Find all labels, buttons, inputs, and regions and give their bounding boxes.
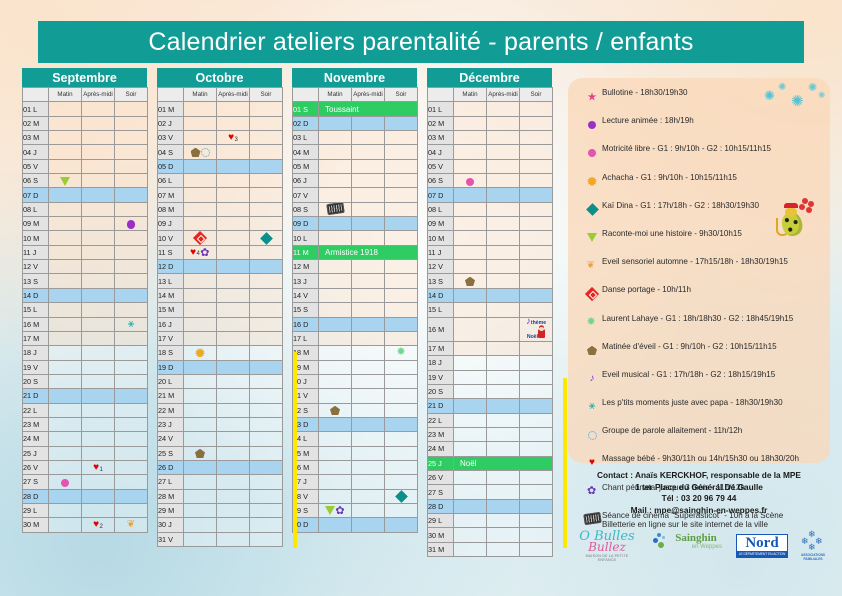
slot-cell [520, 485, 553, 499]
flower-icon: ✿ [335, 506, 345, 516]
day-label: 03 M [428, 131, 454, 145]
slot-cell [385, 116, 418, 130]
corner-cell [158, 88, 184, 102]
slot-cell [385, 202, 418, 216]
slot-cell [115, 231, 148, 245]
day-label: 06 S [23, 174, 49, 188]
day-label: 10 M [23, 231, 49, 245]
day-row: 09 M [428, 217, 553, 231]
day-row: 30 M [428, 528, 553, 542]
day-label: 13 L [158, 274, 184, 288]
legend-icon [582, 87, 602, 106]
day-row: 21 D [23, 389, 148, 403]
day-row: 12 M [293, 260, 418, 274]
day-label: 17 L [293, 331, 319, 345]
day-label: 20 S [23, 374, 49, 388]
day-row: 02 M [23, 116, 148, 130]
slot-cell [520, 384, 553, 398]
day-row: 24 L [293, 432, 418, 446]
day-row: 21 D [428, 399, 553, 413]
slot-cell [520, 274, 553, 288]
slot-cell [49, 460, 82, 474]
slot-cell [487, 485, 520, 499]
slot-cell [487, 528, 520, 542]
day-label: 10 V [158, 231, 184, 245]
day-row: 19 V [428, 370, 553, 384]
day-row: 11 S♥4✿ [158, 245, 283, 259]
legend-label: Eveil sensoriel automne - 17h15/18h - 18… [602, 256, 788, 268]
day-label: 01 L [428, 102, 454, 116]
legend-icon [582, 284, 602, 303]
slot-cell [454, 427, 487, 441]
slot-cell [217, 489, 250, 503]
slot-cell [49, 518, 82, 532]
slot-cell [115, 374, 148, 388]
slot-cell [49, 475, 82, 489]
day-label: 08 S [293, 202, 319, 216]
diamond-teal-icon [586, 203, 599, 216]
day-row: 29 M [158, 503, 283, 517]
day-label: 08 M [158, 202, 184, 216]
day-row: 30 J [158, 518, 283, 532]
holiday-name: Toussaint [319, 102, 418, 116]
slot-cell [352, 188, 385, 202]
day-row: 06 S [23, 174, 148, 188]
day-label: 11 S [158, 245, 184, 259]
slot-cell [352, 303, 385, 317]
flower-icon: ✿ [200, 248, 210, 258]
day-label: 10 M [428, 231, 454, 245]
day-row: 13 S [428, 274, 553, 288]
day-label: 02 M [23, 116, 49, 130]
day-row: 14 D [428, 288, 553, 302]
day-row: 14 M [158, 288, 283, 302]
day-label: 03 M [23, 131, 49, 145]
circ-purple-icon [588, 121, 597, 130]
slot-cell [217, 403, 250, 417]
day-label: 23 M [23, 417, 49, 431]
slot-cell [352, 288, 385, 302]
day-row: 02 M [428, 116, 553, 130]
slot-cell [184, 288, 217, 302]
slot-cell [352, 374, 385, 388]
day-label: 03 V [158, 131, 184, 145]
slot-cell [217, 360, 250, 374]
slot-cell [487, 188, 520, 202]
legend-item: ✸Laurent Lahaye - G1 : 18h/18h30 - G2 : … [582, 313, 822, 332]
day-label: 25 J [428, 456, 454, 470]
slot-cell [217, 475, 250, 489]
day-row: 10 M [428, 231, 553, 245]
day-row: 16 M♪thèmeNoël [428, 317, 553, 341]
slot-cell [217, 374, 250, 388]
slot-cell [319, 518, 352, 532]
day-label: 07 V [293, 188, 319, 202]
slot-cell [49, 503, 82, 517]
slot-cell [385, 417, 418, 431]
day-row: 04 J [23, 145, 148, 159]
legend-label: Kaï Dina - G1 : 17h/18h - G2 : 18h30/19h… [602, 200, 759, 212]
slot-cell [250, 503, 283, 517]
slot-cell [385, 503, 418, 517]
day-label: 01 L [23, 102, 49, 116]
day-row: 19 V [23, 360, 148, 374]
slot-cell [385, 303, 418, 317]
slot-cell [352, 317, 385, 331]
slot-cell [49, 403, 82, 417]
day-row: 05 V [428, 159, 553, 173]
slot-cell [319, 346, 352, 360]
day-row: 21 V [293, 389, 418, 403]
slot-cell [115, 346, 148, 360]
slot-cell [217, 317, 250, 331]
slot-cell [217, 260, 250, 274]
month-table: MatinAprès-midiSoir01 SToussaint02 D03 L… [292, 87, 418, 533]
legend-label: Eveil musical - G1 : 17h/18h - G2 : 18h1… [602, 369, 775, 381]
spark-icon: ✸ [396, 347, 407, 358]
slot-cell [82, 417, 115, 431]
slot-cell [319, 374, 352, 388]
month-novembre: NovembreMatinAprès-midiSoir01 SToussaint… [292, 68, 417, 533]
slot-cell [352, 131, 385, 145]
day-label: 08 L [428, 202, 454, 216]
slot-cell [520, 413, 553, 427]
slot-cell [520, 442, 553, 456]
slot-cell [250, 346, 283, 360]
circ-pink-icon [61, 479, 69, 487]
slot-cell [520, 159, 553, 173]
day-label: 02 J [158, 116, 184, 130]
slot-cell [184, 260, 217, 274]
legend-icon [582, 425, 602, 444]
day-row: 04 M [293, 145, 418, 159]
slot-cell [352, 417, 385, 431]
slot-cell [49, 374, 82, 388]
column-header: Soir [385, 88, 418, 102]
day-row: 21 M [158, 389, 283, 403]
day-row: 20 J [293, 374, 418, 388]
legend-icon [582, 143, 602, 162]
slot-cell [49, 417, 82, 431]
day-label: 09 J [158, 217, 184, 231]
slot-cell [385, 317, 418, 331]
day-label: 04 S [158, 145, 184, 159]
slot-cell [184, 303, 217, 317]
slot-cell [319, 417, 352, 431]
slot-cell [385, 145, 418, 159]
legend-icon: ⚹ [582, 397, 602, 416]
legend-icon: ✸ [582, 313, 602, 332]
day-row: 03 V♥3 [158, 131, 283, 145]
vacation-bar-noel [563, 378, 567, 548]
slot-cell: ♥3 [217, 131, 250, 145]
heart-icon: ♥ [190, 248, 196, 258]
holiday-name: Noël [454, 456, 553, 470]
day-label: 19 V [428, 370, 454, 384]
day-row: 14 V [293, 288, 418, 302]
contact-block: Contact : Anaïs KERCKHOF, responsable de… [568, 470, 830, 520]
slot-cell [217, 303, 250, 317]
day-label: 22 L [428, 413, 454, 427]
slot-cell [82, 288, 115, 302]
slot-cell [454, 231, 487, 245]
slot-cell [385, 489, 418, 503]
slot-cell [217, 432, 250, 446]
day-label: 15 M [158, 303, 184, 317]
slot-cell [352, 489, 385, 503]
day-label: 07 D [23, 188, 49, 202]
day-label: 05 M [293, 159, 319, 173]
slot-cell [250, 460, 283, 474]
slot-cell [487, 131, 520, 145]
slot-cell [82, 346, 115, 360]
day-label: 15 L [23, 303, 49, 317]
slot-cell [352, 360, 385, 374]
slot-cell [454, 159, 487, 173]
slot-cell [250, 116, 283, 130]
day-row: 24 V [158, 432, 283, 446]
slot-cell [115, 217, 148, 231]
slot-cell [319, 202, 352, 216]
slot-cell [250, 489, 283, 503]
santa-icon [538, 327, 545, 338]
slot-cell [319, 331, 352, 345]
day-row: 06 L [158, 174, 283, 188]
slot-cell [49, 145, 82, 159]
day-row: 25 J [23, 446, 148, 460]
slot-cell [520, 399, 553, 413]
slot-cell [319, 303, 352, 317]
day-row: 26 M [293, 460, 418, 474]
slot-cell [217, 116, 250, 130]
slot-cell [250, 303, 283, 317]
slot-cell: ✿ [319, 503, 352, 517]
day-label: 29 L [428, 514, 454, 528]
day-label: 30 J [158, 518, 184, 532]
day-row: 03 L [293, 131, 418, 145]
slot-cell [115, 159, 148, 173]
slot-cell [454, 245, 487, 259]
slot-cell [352, 202, 385, 216]
day-row: 03 M [428, 131, 553, 145]
day-label: 02 M [428, 116, 454, 130]
slot-cell [250, 288, 283, 302]
slot-cell [184, 317, 217, 331]
slot-cell [250, 403, 283, 417]
slot-cell [454, 145, 487, 159]
day-label: 05 V [428, 159, 454, 173]
legend-label: Les p'tits moments juste avec papa - 18h… [602, 397, 783, 409]
day-row: 27 J [293, 475, 418, 489]
tri-green-icon [60, 177, 70, 186]
slot-cell [454, 188, 487, 202]
slot-cell [217, 346, 250, 360]
slot-cell [487, 542, 520, 556]
slot-cell [319, 432, 352, 446]
day-row: 17 V [158, 331, 283, 345]
legend-item: Achacha - G1 : 9h/10h - 10h15/11h15 [582, 172, 822, 191]
slot-cell [184, 518, 217, 532]
slot-cell [454, 260, 487, 274]
slot-cell: ❦ [115, 518, 148, 532]
penta-icon [587, 346, 597, 356]
day-row: 20 S [428, 384, 553, 398]
corner-cell [23, 88, 49, 102]
slot-cell [49, 188, 82, 202]
slot-cell: ✸ [385, 346, 418, 360]
slot-cell [82, 231, 115, 245]
legend-label: Lecture animée : 18h/19h [602, 115, 694, 127]
icon-subscript: 1 [100, 467, 103, 473]
slot-cell [217, 532, 250, 546]
diamond-red-icon [195, 233, 205, 243]
slot-cell [520, 514, 553, 528]
column-header: Matin [319, 88, 352, 102]
slot-cell [250, 417, 283, 431]
cinema-icon [326, 202, 344, 215]
day-label: 18 J [23, 346, 49, 360]
slot-cell [454, 202, 487, 216]
slot-cell [487, 202, 520, 216]
day-row: 15 L [428, 303, 553, 317]
legend-label: Bullotine - 18h30/19h30 [602, 87, 688, 99]
day-row: 08 S [293, 202, 418, 216]
slot-cell [82, 188, 115, 202]
icon-subscript: 2 [100, 524, 103, 530]
slot-cell [385, 475, 418, 489]
slot-cell [217, 217, 250, 231]
slot-cell [352, 518, 385, 532]
slot-cell [319, 217, 352, 231]
day-label: 06 S [428, 174, 454, 188]
slot-cell [49, 174, 82, 188]
slot-cell [82, 389, 115, 403]
day-row: 09 M [23, 217, 148, 231]
slot-cell [217, 102, 250, 116]
day-label: 18 J [428, 356, 454, 370]
slot-cell [82, 432, 115, 446]
day-row: 01 SToussaint [293, 102, 418, 116]
slot-cell [454, 102, 487, 116]
day-label: 16 J [158, 317, 184, 331]
slot-cell [217, 145, 250, 159]
slot-cell [217, 518, 250, 532]
slot-cell [454, 303, 487, 317]
day-row: 09 J [158, 217, 283, 231]
day-label: 22 L [23, 403, 49, 417]
tri-green-icon [587, 233, 597, 242]
day-row: 22 L [23, 403, 148, 417]
slot-cell [319, 460, 352, 474]
column-header: Après-midi [352, 88, 385, 102]
slot-cell [250, 174, 283, 188]
slot-cell [454, 356, 487, 370]
slot-cell: ♥2 [82, 518, 115, 532]
day-label: 10 L [293, 231, 319, 245]
day-row: 13 S [23, 274, 148, 288]
spark-icon: ✸ [587, 317, 598, 328]
slot-cell [82, 317, 115, 331]
slot-cell [352, 331, 385, 345]
slot-cell [49, 288, 82, 302]
slot-cell [184, 403, 217, 417]
slot-cell [454, 341, 487, 355]
day-row: 17 M [428, 341, 553, 355]
slot-cell [487, 499, 520, 513]
day-label: 19 V [23, 360, 49, 374]
slot-cell [115, 460, 148, 474]
slot-cell [487, 260, 520, 274]
sun-icon [587, 176, 597, 186]
slot-cell [385, 274, 418, 288]
slot-cell [520, 288, 553, 302]
slot-cell [250, 145, 283, 159]
slot-cell [454, 131, 487, 145]
day-label: 03 L [293, 131, 319, 145]
day-row: 18 S [158, 346, 283, 360]
legend-item: Lecture animée : 18h/19h [582, 115, 822, 134]
logo-nord: Nord LE DÉPARTEMENT EN ACTION [736, 534, 788, 558]
day-row: 17 M [23, 331, 148, 345]
day-label: 14 D [428, 288, 454, 302]
legend-label: Achacha - G1 : 9h/10h - 10h15/11h15 [602, 172, 737, 184]
day-row: 02 D [293, 116, 418, 130]
slot-cell [352, 432, 385, 446]
slot-cell [250, 532, 283, 546]
day-label: 16 M [428, 317, 454, 341]
day-label: 09 M [428, 217, 454, 231]
day-label: 24 M [23, 432, 49, 446]
slot-cell [520, 356, 553, 370]
legend-item: ♪Eveil musical - G1 : 17h/18h - G2 : 18h… [582, 369, 822, 388]
logo-bulle-line3: MAISON DE LA PETITE ENFANCE [576, 554, 638, 562]
slot-cell [319, 403, 352, 417]
slot-cell [520, 303, 553, 317]
day-row: 04 J [428, 145, 553, 159]
day-label: 15 S [293, 303, 319, 317]
slot-cell [454, 528, 487, 542]
slot-cell [82, 303, 115, 317]
slot-cell [184, 231, 217, 245]
slot-cell [115, 503, 148, 517]
slot-cell [487, 471, 520, 485]
slot-cell [487, 370, 520, 384]
logo-sainghin: Sainghin en Weppes [650, 532, 728, 551]
slot-cell [250, 202, 283, 216]
day-label: 21 D [23, 389, 49, 403]
day-label: 20 S [428, 384, 454, 398]
slot-cell [385, 231, 418, 245]
sun-icon [195, 348, 205, 358]
slot-cell [385, 159, 418, 173]
legend-label: Massage bébé - 9h30/11h ou 14h/15h30 ou … [602, 453, 799, 465]
penta-icon [195, 449, 205, 459]
slot-cell [82, 360, 115, 374]
slot-cell [184, 145, 217, 159]
day-label: 07 D [428, 188, 454, 202]
logo-nord-line2: LE DÉPARTEMENT EN ACTION [737, 551, 787, 557]
day-label: 27 S [428, 485, 454, 499]
day-label: 17 V [158, 331, 184, 345]
day-row: 19 M [293, 360, 418, 374]
slot-cell [217, 174, 250, 188]
slot-cell [520, 499, 553, 513]
corner-cell [293, 88, 319, 102]
slot-cell [319, 446, 352, 460]
legend-item: Groupe de parole allaitement - 11h/12h [582, 425, 822, 444]
slot-cell [319, 174, 352, 188]
penta-icon [191, 148, 201, 158]
